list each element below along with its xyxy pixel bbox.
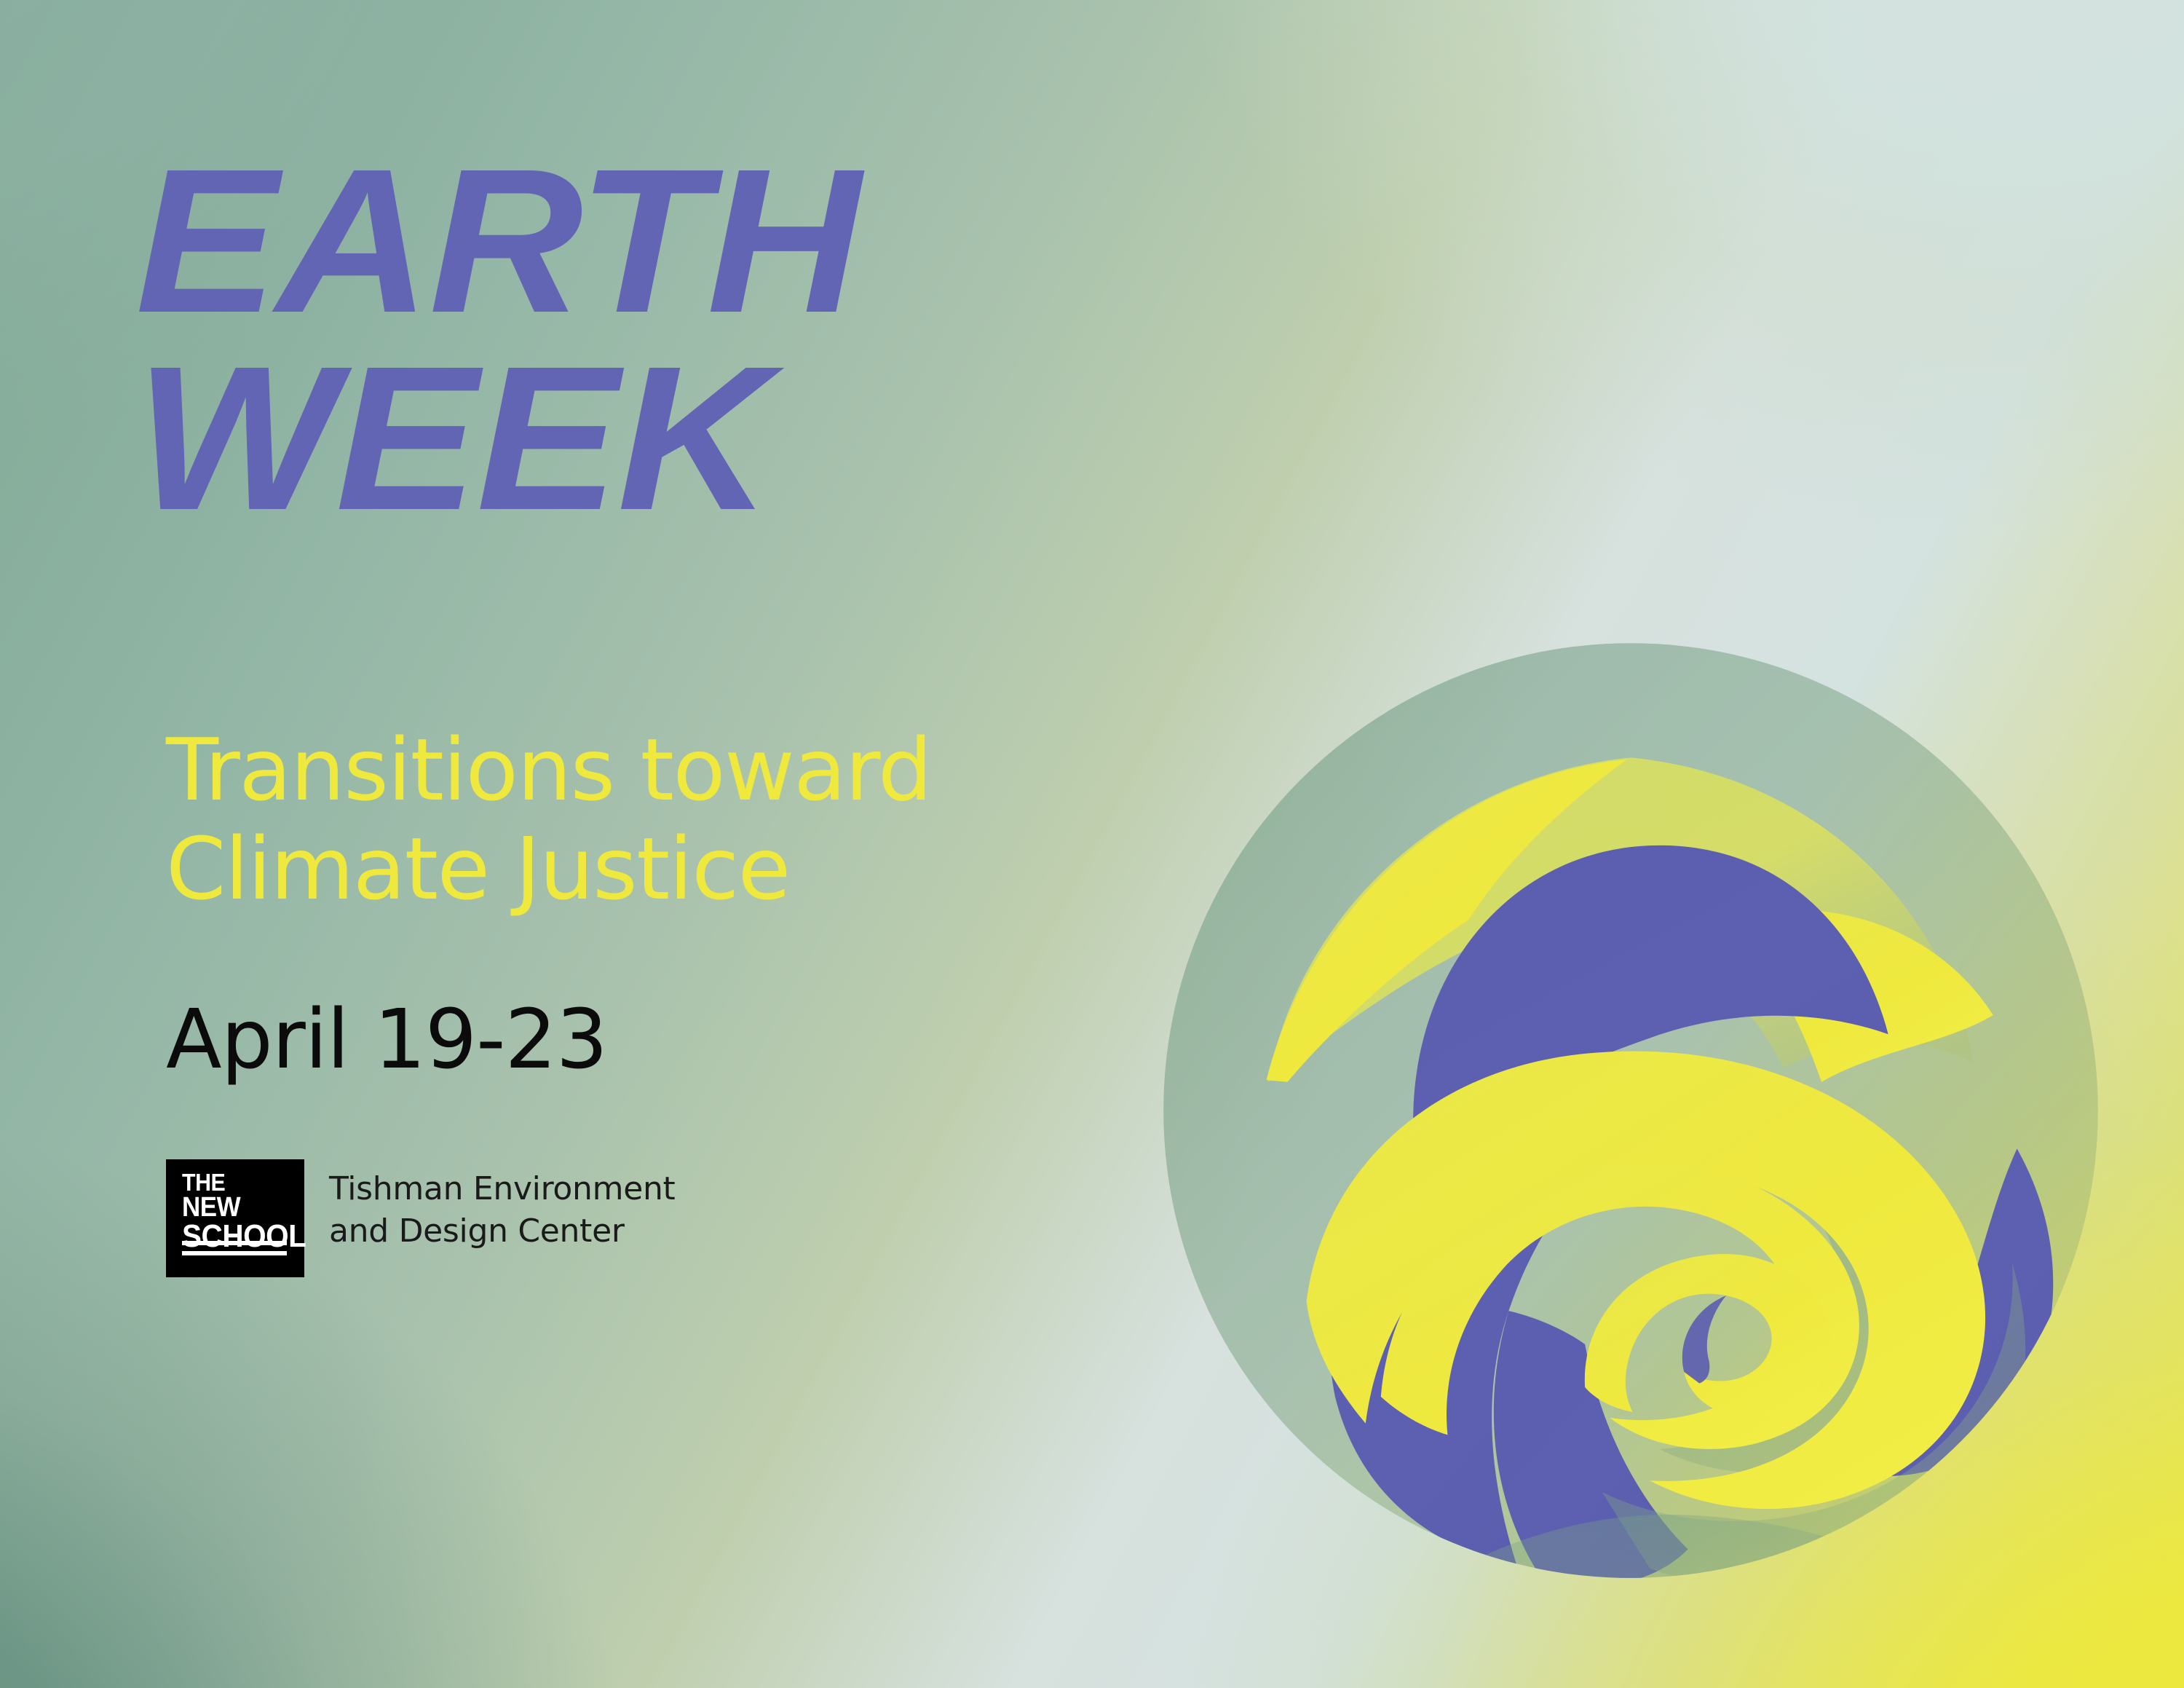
logo-lockup: THE NEW SCHOOL Tishman Environment and D… xyxy=(166,1159,676,1277)
logo-line-the: THE xyxy=(182,1171,287,1194)
earth-week-spiral-emblem xyxy=(1154,634,2108,1588)
logo-rules xyxy=(182,1235,287,1255)
poster-subtitle: Transitions toward Climate Justice xyxy=(166,721,1200,918)
spiral-disc-group xyxy=(1163,643,2098,1588)
earth-week-poster: EARTH WEEK Transitions toward Climate Ju… xyxy=(0,0,2184,1688)
logo-line-new: NEW xyxy=(182,1194,287,1221)
poster-content: EARTH WEEK Transitions toward Climate Ju… xyxy=(0,0,2184,1688)
logo-rule-bottom xyxy=(182,1251,287,1255)
tishman-center-name: Tishman Environment and Design Center xyxy=(329,1159,676,1253)
spiral-emblem-svg xyxy=(1154,634,2108,1588)
logo-rule-top xyxy=(182,1241,287,1245)
page-title: EARTH WEEK xyxy=(135,143,1271,537)
event-dates: April 19-23 xyxy=(166,999,607,1081)
the-new-school-logo: THE NEW SCHOOL xyxy=(166,1159,304,1277)
